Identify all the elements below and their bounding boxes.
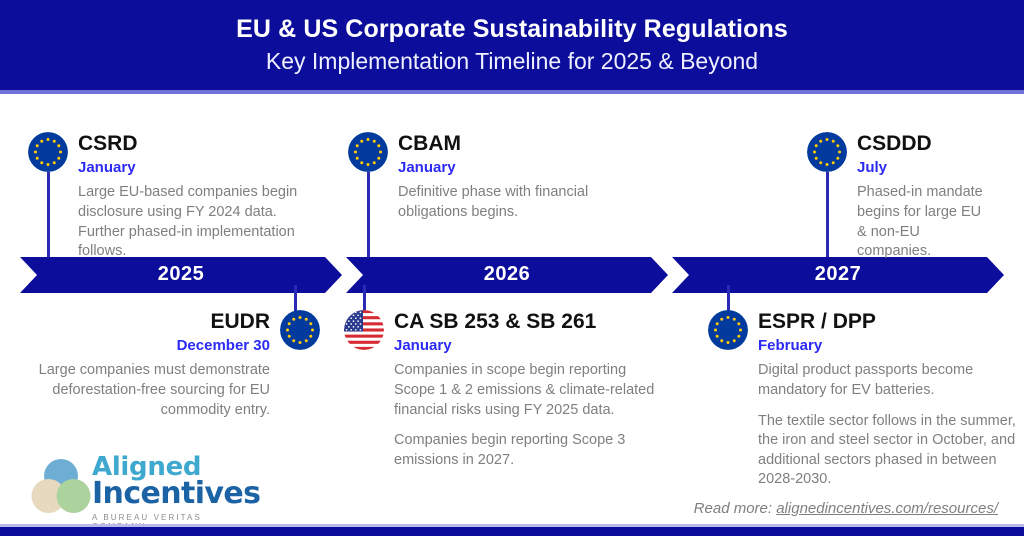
item-description: Large EU-based companies begin disclosur…	[78, 183, 303, 261]
item-date: January	[398, 159, 461, 178]
timeline-item-ca-sb-253-261: CA SB 253 & SB 261 January Companies in …	[344, 310, 674, 470]
eu-flag-icon	[708, 310, 748, 350]
item-header: CSDDD July	[807, 132, 1022, 177]
item-header: CSRD January	[28, 132, 318, 177]
item-date: February	[758, 337, 876, 356]
eu-flag-icon	[280, 310, 320, 350]
company-logo[interactable]: Aligned Incentives A BUREAU VERITAS COMP…	[30, 452, 245, 524]
us-flag-icon	[344, 310, 384, 350]
read-more-footer: Read more: alignedincentives.com/resourc…	[694, 500, 998, 517]
item-description: Definitive phase with financial obligati…	[398, 183, 613, 222]
item-title: CSDDD	[857, 133, 932, 156]
item-description: Digital product passports become mandato…	[758, 361, 1016, 400]
eu-flag-icon	[807, 132, 847, 172]
item-description: Companies begin reporting Scope 3 emissi…	[394, 431, 656, 470]
header-banner: EU & US Corporate Sustainability Regulat…	[0, 0, 1024, 90]
item-titles: CSRD January	[78, 132, 138, 177]
read-more-label: Read more:	[694, 500, 777, 517]
item-header: CBAM January	[348, 132, 638, 177]
timeline-year-label: 2026	[484, 263, 531, 286]
item-description: The textile sector follows in the summer…	[758, 412, 1016, 490]
timeline-year-label: 2027	[815, 263, 862, 286]
logo-line-incentives: Incentives	[92, 478, 260, 510]
item-header: CA SB 253 & SB 261 January	[344, 310, 674, 355]
item-date: December 30	[177, 337, 270, 356]
timeline-item-cbam: CBAM January Definitive phase with finan…	[348, 132, 638, 223]
timeline-segment-2026[interactable]: 2026	[346, 257, 668, 293]
page-title: EU & US Corporate Sustainability Regulat…	[236, 16, 788, 44]
timeline-bar: 2025 2026 2027	[20, 257, 1004, 293]
item-titles: CBAM January	[398, 132, 461, 177]
header-underline-divider	[0, 90, 1024, 94]
item-description: Phased-in mandate begins for large EU & …	[857, 183, 992, 261]
item-date: January	[394, 337, 596, 356]
item-description: Large companies must demonstrate defores…	[10, 361, 270, 420]
item-date: July	[857, 159, 932, 178]
item-title: ESPR / DPP	[758, 311, 876, 334]
timeline-year-label: 2025	[158, 263, 205, 286]
item-titles: CA SB 253 & SB 261 January	[394, 310, 596, 355]
item-description: Companies in scope begin reporting Scope…	[394, 361, 656, 420]
item-title: CSRD	[78, 133, 138, 156]
eu-flag-icon	[348, 132, 388, 172]
item-title: CBAM	[398, 133, 461, 156]
connector-line-espr	[727, 285, 730, 313]
resources-link[interactable]: alignedincentives.com/resources/	[776, 500, 998, 517]
timeline-segment-2027[interactable]: 2027	[672, 257, 1004, 293]
timeline-item-csddd: CSDDD July Phased-in mandate begins for …	[807, 132, 1022, 262]
footer-bar	[0, 527, 1024, 536]
eu-flag-icon	[28, 132, 68, 172]
item-titles: ESPR / DPP February	[758, 310, 876, 355]
item-title: EUDR	[177, 311, 270, 334]
logo-circles-icon	[30, 456, 92, 518]
item-title: CA SB 253 & SB 261	[394, 311, 596, 334]
item-header: ESPR / DPP February	[708, 310, 1018, 355]
timeline-item-csrd: CSRD January Large EU-based companies be…	[28, 132, 318, 262]
connector-line-ca-sb	[363, 285, 366, 313]
item-titles: CSDDD July	[857, 132, 932, 177]
item-date: January	[78, 159, 138, 178]
timeline-item-espr-dpp: ESPR / DPP February Digital product pass…	[708, 310, 1018, 490]
connector-line-eudr	[294, 285, 297, 313]
item-titles: EUDR December 30	[177, 310, 270, 355]
infographic-canvas: EU & US Corporate Sustainability Regulat…	[0, 0, 1024, 536]
timeline-item-eudr: EUDR December 30 Large companies must de…	[10, 310, 320, 420]
item-header: EUDR December 30	[10, 310, 320, 355]
page-subtitle: Key Implementation Timeline for 2025 & B…	[266, 49, 758, 74]
logo-wordmark: Aligned Incentives A BUREAU VERITAS COMP…	[92, 454, 260, 531]
